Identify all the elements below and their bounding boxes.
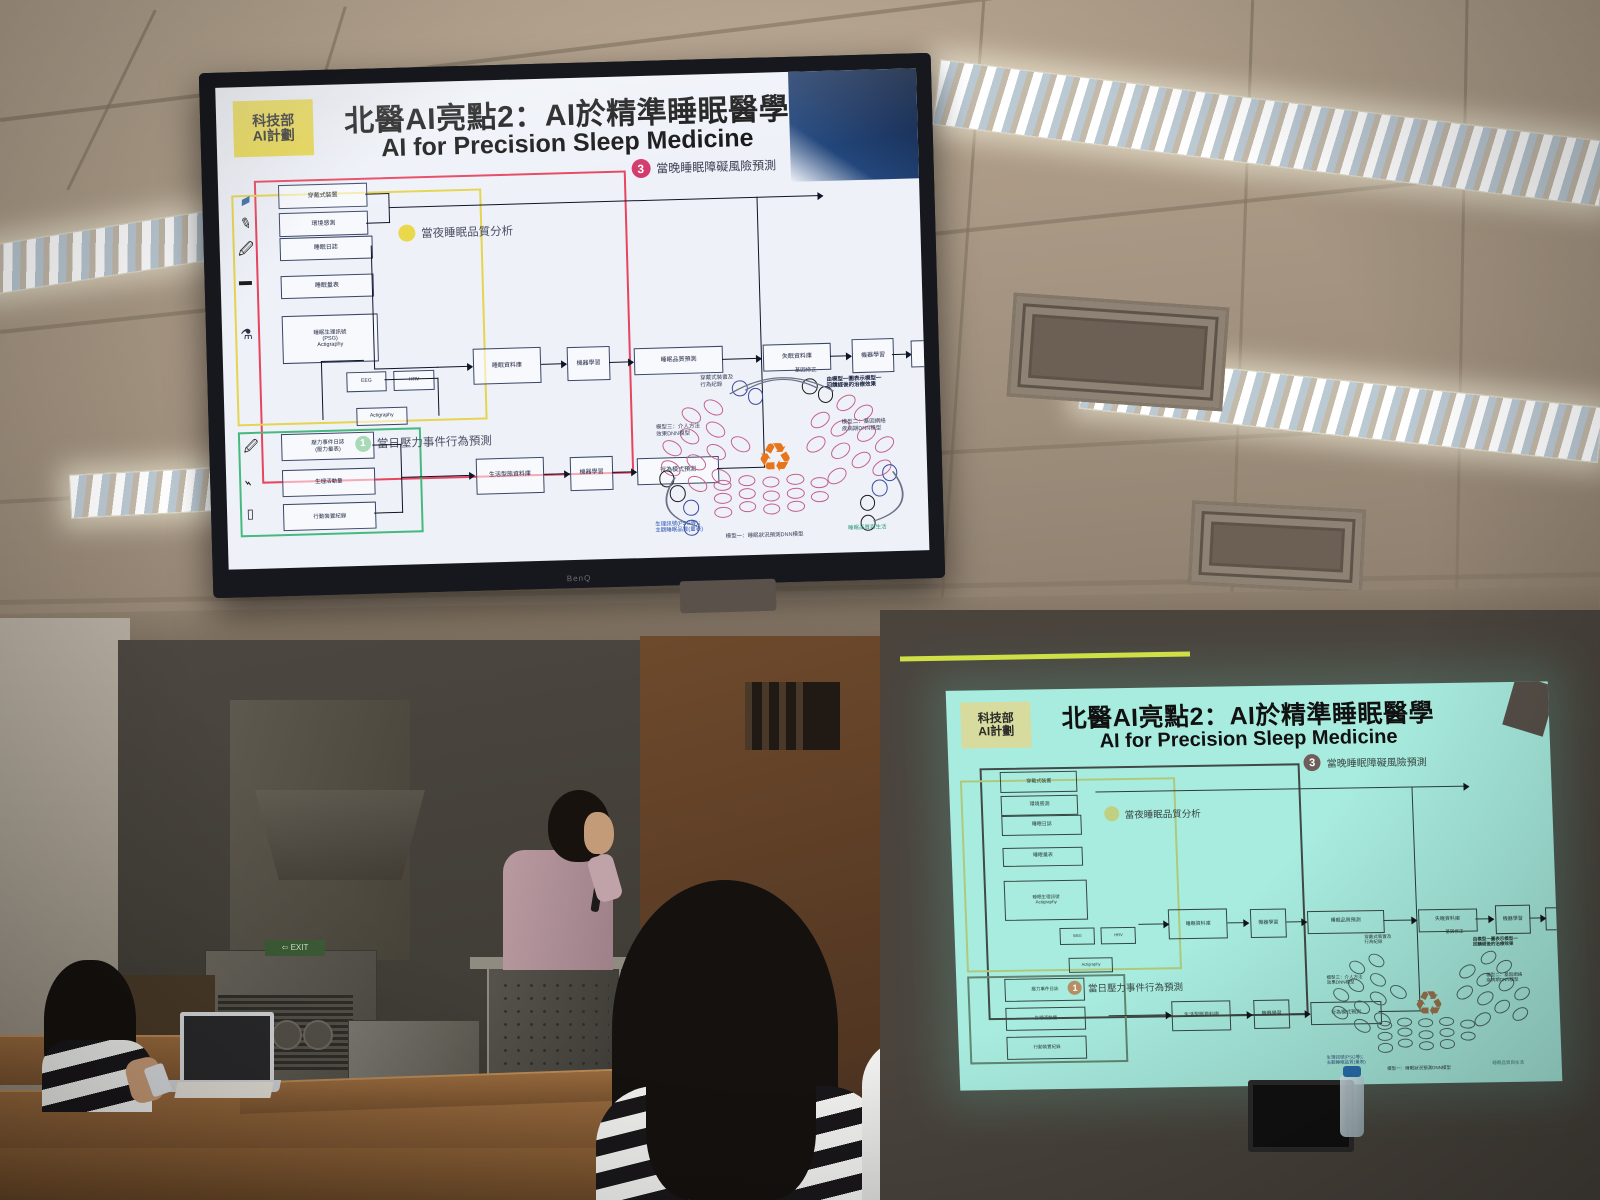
display-screen: 科技部 AI計劃 北醫AI亮點2：AI於精準睡眠醫學 AI for Precis… xyxy=(215,68,929,569)
polysomnography-icon: ⚗ xyxy=(240,325,253,342)
input-box: 環境感測 xyxy=(1001,794,1079,816)
ceiling-light-fixture xyxy=(0,210,216,296)
step-label-3: 當晚睡眠障礙風險預測 xyxy=(1326,753,1427,770)
input-box: 睡眠生理訊號Actigraphy xyxy=(1004,880,1089,921)
input-box: 生理活動量 xyxy=(282,467,376,497)
annotation-top-left: 穿戴式裝置及 行為紀錄 xyxy=(1364,934,1391,945)
wall-vent-grille xyxy=(745,682,840,750)
signal-box-actigraphy: Actigraphy xyxy=(1069,957,1114,973)
input-box: 穿戴式裝置 xyxy=(1000,771,1078,793)
input-box: 行動裝置紀錄 xyxy=(1007,1036,1088,1060)
input-box: 壓力事件日誌 xyxy=(1004,977,1085,1001)
step-label-2: 當夜睡眠品質分析 xyxy=(1125,805,1202,820)
ministry-badge: 科技部 AI計劃 xyxy=(232,100,314,158)
input-box: 睡眠量表 xyxy=(1003,846,1084,866)
annotation-model-three: 模型三：介人方法 效果DNN模型 xyxy=(1327,974,1363,985)
wall-mounted-display: 科技部 AI計劃 北醫AI亮點2：AI於精準睡眠醫學 AI for Precis… xyxy=(199,53,945,598)
projected-slide-canvas: 科技部 AI計劃 北醫AI亮點2：AI於精準睡眠醫學 AI for Precis… xyxy=(946,681,1563,1090)
dnn-triad-diagram: ♻ xyxy=(651,372,915,543)
dnn-triad-diagram: ♻ xyxy=(1322,933,1550,1072)
input-box: 睡眠量表 xyxy=(280,273,374,298)
input-box: 睡眠日誌 xyxy=(279,236,373,261)
annotation-bottom-left: 生理訊號(PSG等)； 主觀睡眠品質(量表) xyxy=(1326,1054,1366,1065)
input-box: 睡眠日誌 xyxy=(1001,815,1082,835)
annotation-right-note: 由模型一圖表示模型一 回饋經後的治療效果 xyxy=(826,375,881,389)
pipeline-node: 機器學習 xyxy=(1494,905,1531,934)
smartphone-icon: ▯ xyxy=(247,506,255,522)
notebook-paper xyxy=(174,1082,273,1098)
annotation-top-right: 基因修正 xyxy=(1445,929,1463,934)
laptop-screen xyxy=(180,1012,274,1086)
desk-row-front-face xyxy=(0,1148,640,1200)
annotation-model-two: 模型二：基因網絡 疾病期DNN模型 xyxy=(1486,972,1522,983)
pipeline-node: 睡眠資料庫 xyxy=(472,347,542,385)
input-box: 壓力事件日誌(壓力量表) xyxy=(281,432,375,462)
pipeline-node: 機器學習 xyxy=(852,338,894,373)
annotation-right-note: 由模型一圖表示模型一 回饋經後的治療效果 xyxy=(1473,936,1518,947)
pipeline-node: 睡眠品質預測 xyxy=(633,346,723,376)
input-box: 睡眠生理訊號 (PSG) Actigraphy xyxy=(281,314,379,364)
step-number-2 xyxy=(398,225,415,242)
notebook-pen-icon: 🖉 xyxy=(243,436,259,460)
knob-dial xyxy=(272,1020,302,1050)
annotation-model-two: 模型二：基因網絡 疾病期DNN模型 xyxy=(842,419,886,433)
annotation-bottom-left: 生理訊號(PSG等)； 主觀睡眠品質(量表) xyxy=(655,520,704,534)
step-number-3: 3 xyxy=(631,159,651,179)
exit-sign: ⇦ EXIT xyxy=(265,940,325,956)
audience-hair-front xyxy=(646,935,816,1200)
water-bottle-cap xyxy=(1343,1066,1361,1077)
badge-line-2: AI計劃 xyxy=(252,128,294,144)
presenter-face xyxy=(584,812,614,854)
pipeline-node: 睡眠品質預測 xyxy=(1307,910,1385,934)
step-label-2: 當夜睡眠品質分析 xyxy=(421,222,513,241)
lecture-hall-photo: 科技部 AI計劃 北醫AI亮點2：AI於精準睡眠醫學 AI for Precis… xyxy=(0,0,1600,1200)
input-box: 環境感測 xyxy=(278,211,368,238)
ceiling-air-vent xyxy=(1188,501,1366,594)
input-box: 行動裝置紀錄 xyxy=(283,502,377,532)
pipeline-node: 機器學習 xyxy=(1253,1000,1291,1029)
annotation-bottom-right: 睡眠品質與生活 xyxy=(1492,1060,1524,1066)
step-marker-2: 當夜睡眠品質分析 xyxy=(398,222,513,242)
annotation-model-three: 模型三：介人方法 效果DNN模型 xyxy=(656,424,700,438)
ruler-icon: ▬ xyxy=(239,272,252,287)
annotation-top-left: 穿戴式裝置及 行為紀錄 xyxy=(700,375,733,389)
annotation-top-right: 基因修正 xyxy=(795,368,817,375)
projection-screen: 科技部 AI計劃 北醫AI亮點2：AI於精準睡眠醫學 AI for Precis… xyxy=(946,681,1563,1090)
signal-box-eeg: EEG xyxy=(1060,928,1096,945)
ceiling-light-fixture xyxy=(932,59,1600,206)
ceiling-grid-line xyxy=(1454,0,1468,640)
step-marker-2: 當夜睡眠品質分析 xyxy=(1103,805,1201,822)
annotation-bottom-right: 睡眠品質與生活 xyxy=(848,525,887,532)
pipeline-node: 生活型態資料庫 xyxy=(475,457,545,495)
pipeline-node: 機器學習 xyxy=(1249,909,1287,938)
pipeline-node: 機器學習 xyxy=(570,456,614,491)
display-brand-logo: BenQ xyxy=(567,574,592,584)
notebook-pen-icon: 🖉 xyxy=(238,239,255,264)
ministry-badge: 科技部 AI計劃 xyxy=(961,702,1032,749)
step-label-1: 當日壓力事件行為預測 xyxy=(1088,979,1184,994)
step-marker-3: 3 當晚睡眠障礙風險預測 xyxy=(631,156,776,179)
pipeline-node: 機器學習 xyxy=(567,346,611,381)
desk-monitor xyxy=(1248,1080,1354,1152)
feedback-arcs xyxy=(651,372,915,543)
signal-box-hrv: HRV xyxy=(1101,927,1137,944)
input-box: 穿戴式裝置 xyxy=(278,183,368,210)
pipeline-node: 生活型態資料庫 xyxy=(1171,1000,1231,1031)
step-number-2 xyxy=(1103,806,1119,821)
tv-mount-bracket xyxy=(680,579,777,614)
input-box: 生理活動量 xyxy=(1005,1007,1086,1031)
knob-dial xyxy=(303,1020,333,1050)
water-bottle xyxy=(1340,1075,1364,1137)
air-conditioner-hood xyxy=(255,790,425,880)
badge-line-2: AI計劃 xyxy=(978,725,1014,738)
pipeline-node: 睡眠資料庫 xyxy=(1168,909,1228,940)
step-label-3: 當晚睡眠障礙風險預測 xyxy=(656,157,776,177)
screen-glare xyxy=(788,68,919,182)
step-marker-3: 3 當晚睡眠障礙風險預測 xyxy=(1303,752,1427,771)
step-number-3: 3 xyxy=(1303,754,1321,771)
ceiling-air-vent xyxy=(1007,293,1230,412)
annotation-model-one: 模型一：睡眠狀況預測DNN模型 xyxy=(1387,1065,1451,1071)
